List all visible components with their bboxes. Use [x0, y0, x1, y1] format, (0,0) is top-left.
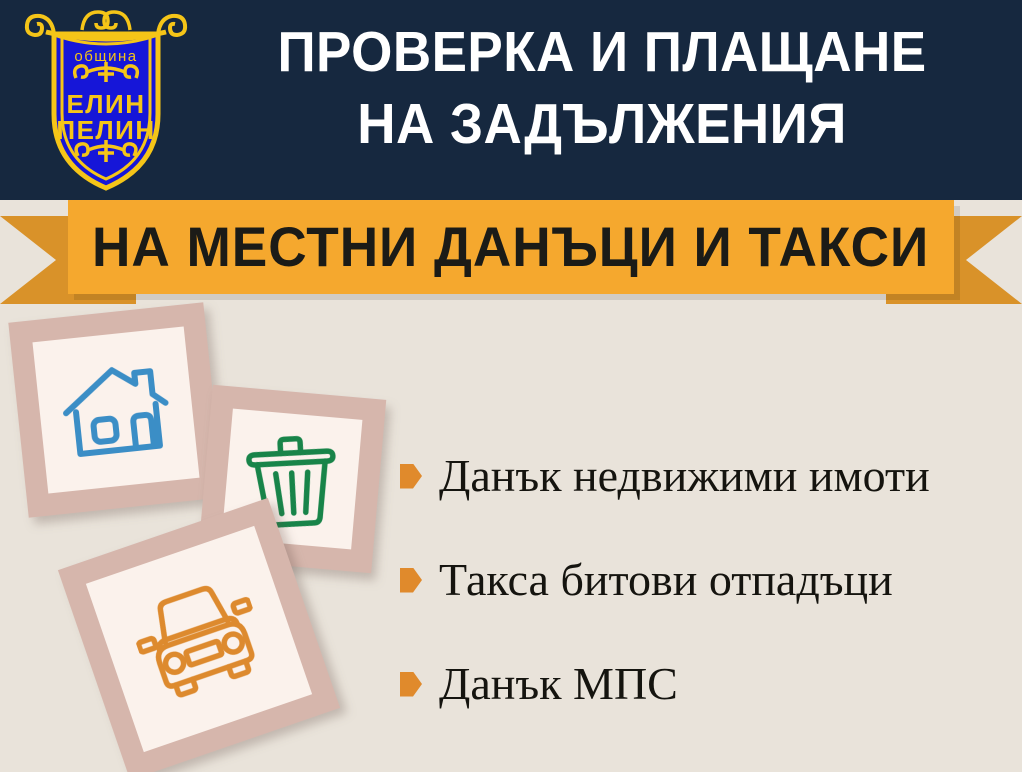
bullet-arrow-icon: [400, 672, 422, 697]
tax-list: Данък недвижими имоти Такса битови отпад…: [400, 424, 1010, 736]
list-item[interactable]: Данък МПС: [400, 632, 1010, 736]
coat-of-arms: община ЕЛИН ПЕЛИН: [22, 6, 190, 194]
title-line-2: НА ЗАДЪЛЖЕНИЯ: [224, 88, 979, 160]
list-item-label: Такса битови отпадъци: [439, 554, 893, 606]
bullet-arrow-icon: [400, 568, 422, 593]
stamp-paper: [86, 526, 312, 752]
stamp-card-house: [8, 302, 223, 517]
house-icon: [57, 357, 174, 464]
ribbon-band: НА МЕСТНИ ДАНЪЦИ И ТАКСИ: [68, 200, 954, 294]
bullet-arrow-icon: [400, 464, 422, 489]
ribbon-label: НА МЕСТНИ ДАНЪЦИ И ТАКСИ: [92, 218, 929, 276]
title-line-1: ПРОВЕРКА И ПЛАЩАНЕ: [224, 16, 979, 88]
stamp-frame: [8, 302, 223, 517]
list-item-label: Данък недвижими имоти: [439, 450, 930, 502]
list-item[interactable]: Такса битови отпадъци: [400, 528, 1010, 632]
list-item[interactable]: Данък недвижими имоти: [400, 424, 1010, 528]
list-item-label: Данък МПС: [439, 658, 678, 710]
car-icon: [124, 570, 273, 708]
header-bar: община ЕЛИН ПЕЛИН: [0, 0, 1022, 200]
subtitle-ribbon: НА МЕСТНИ ДАНЪЦИ И ТАКСИ: [0, 196, 1022, 308]
stamp-paper: [32, 326, 199, 493]
poster-root: община ЕЛИН ПЕЛИН: [0, 0, 1022, 772]
page-title: ПРОВЕРКА И ПЛАЩАНЕ НА ЗАДЪЛЖЕНИЯ: [196, 16, 1008, 160]
